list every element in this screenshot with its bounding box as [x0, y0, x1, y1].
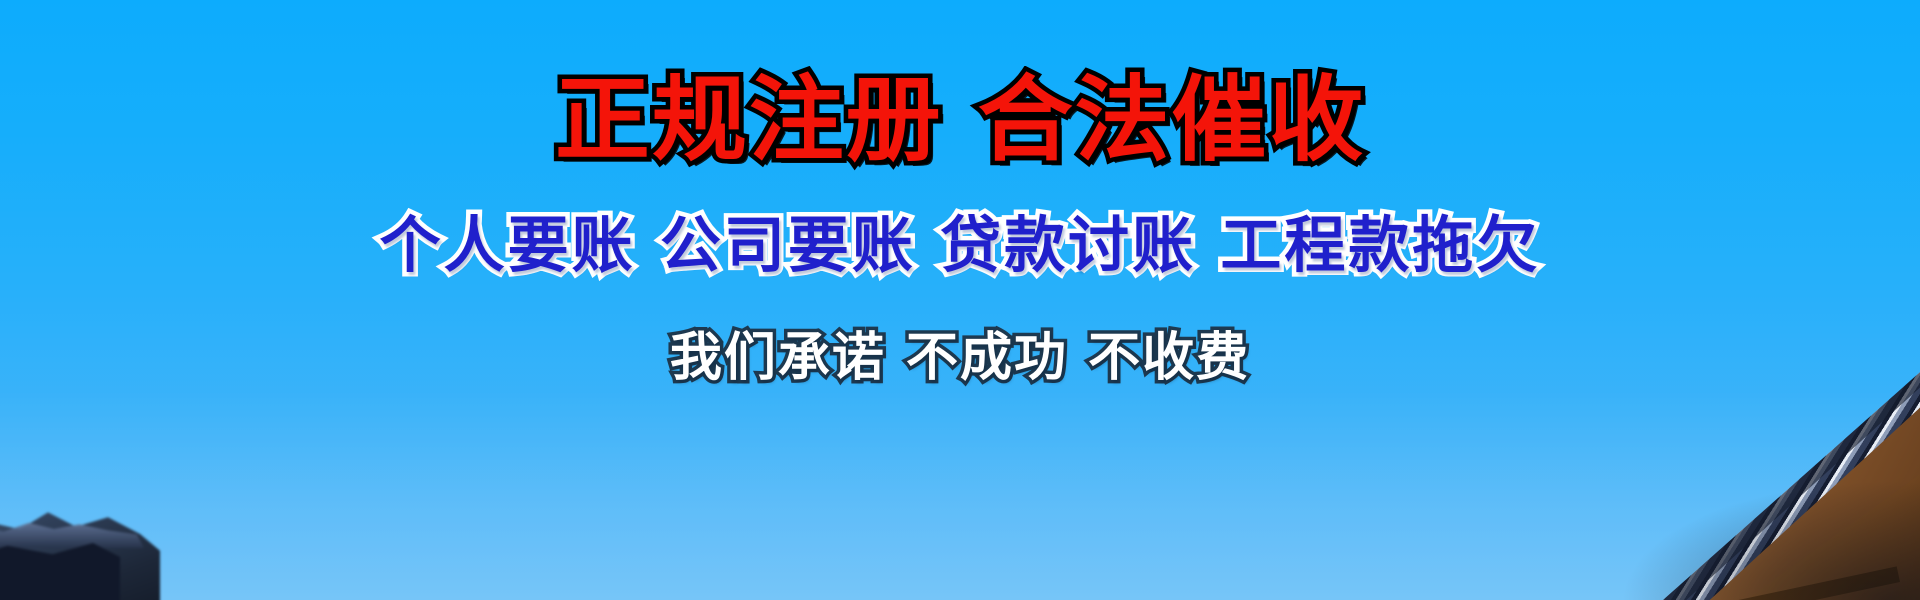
banner-promise-line: 我们承诺 不成功 不收费 [670, 332, 1250, 384]
promo-banner: 正规注册 合法催收 个人要账 公司要账 贷款讨账 工程款拖欠 我们承诺 不成功 … [0, 0, 1920, 600]
banner-text-stack: 正规注册 合法催收 个人要账 公司要账 贷款讨账 工程款拖欠 我们承诺 不成功 … [0, 0, 1920, 600]
banner-services-line: 个人要账 公司要账 贷款讨账 工程款拖欠 [380, 215, 1541, 276]
banner-headline: 正规注册 合法催收 [555, 74, 1365, 167]
